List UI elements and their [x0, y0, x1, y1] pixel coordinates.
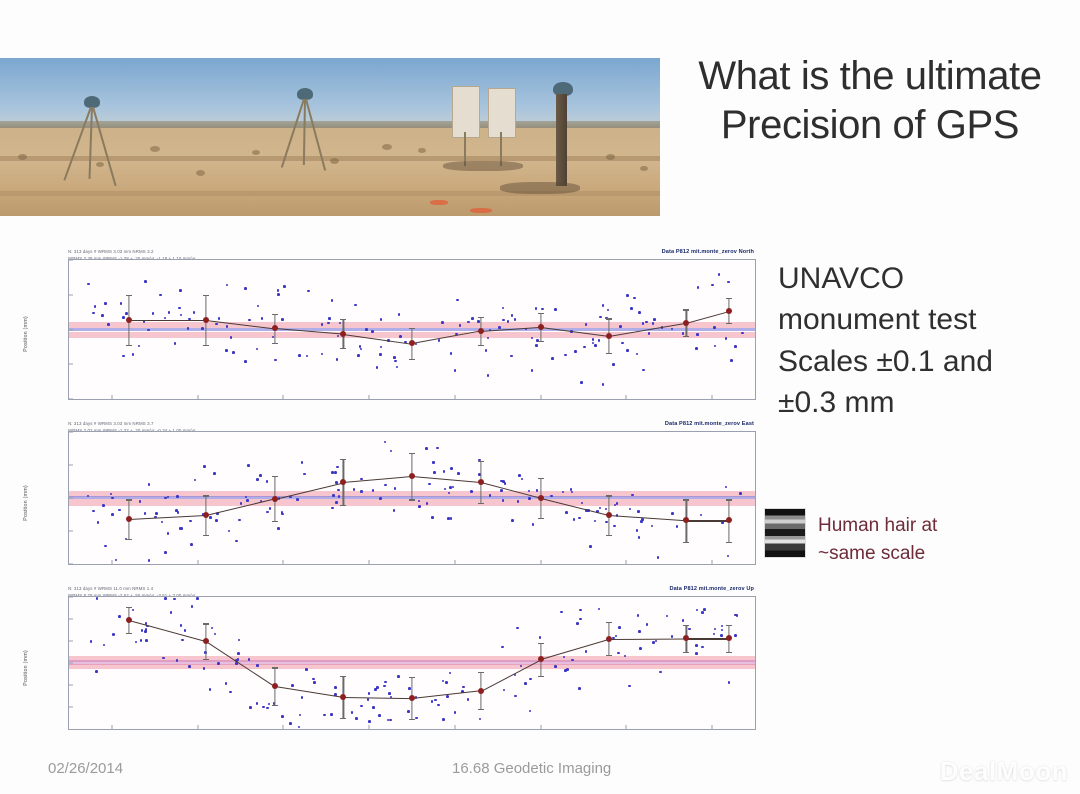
error-bar-cap: [409, 719, 415, 720]
trend-segment: [129, 320, 206, 321]
data-point: [621, 342, 624, 345]
data-point: [688, 628, 691, 631]
data-point: [235, 540, 238, 543]
data-point: [452, 486, 455, 489]
y-tick-mark: [69, 364, 73, 365]
mean-marker: [478, 479, 484, 485]
data-point: [599, 507, 602, 510]
data-point: [289, 722, 292, 725]
data-point: [467, 321, 470, 324]
data-point: [583, 346, 586, 349]
data-point: [696, 609, 699, 612]
data-point: [299, 714, 302, 717]
mean-marker: [409, 695, 415, 701]
data-point: [711, 284, 714, 287]
error-bar-cap: [126, 345, 132, 346]
data-point: [605, 521, 608, 524]
error-bar-cap: [478, 503, 484, 504]
chart-north: N: 313 days # WRMS 3.03 mm NRMS 3.2 WRMS…: [10, 248, 760, 420]
data-point: [614, 504, 617, 507]
data-point: [306, 355, 309, 358]
data-point: [144, 280, 147, 283]
error-bar-cap: [538, 341, 544, 342]
x-tick-mark: [454, 560, 455, 564]
data-point: [454, 711, 457, 714]
human-hair-caption: Human hair at ~same scale: [818, 512, 1068, 567]
data-point: [164, 597, 167, 600]
data-point: [94, 305, 97, 308]
mean-marker: [726, 517, 732, 523]
data-point: [443, 470, 446, 473]
data-point: [504, 482, 507, 485]
trend-segment: [343, 697, 412, 699]
x-tick-mark: [626, 725, 627, 729]
data-point: [331, 299, 334, 302]
data-point: [291, 684, 294, 687]
mean-marker: [726, 308, 732, 314]
survey-flag: [430, 200, 448, 205]
data-point: [256, 702, 259, 705]
data-point: [578, 687, 581, 690]
data-point: [217, 662, 220, 665]
data-point: [524, 682, 527, 685]
data-point: [619, 325, 622, 328]
error-bar-cap: [726, 323, 732, 324]
slide-root: What is the ultimate Precision of GPS UN…: [0, 0, 1080, 794]
data-point: [259, 474, 262, 477]
headline-line-2: Precision of GPS: [660, 101, 1080, 150]
data-point: [383, 685, 386, 688]
error-bar-cap: [683, 336, 689, 337]
error-bar-cap: [340, 319, 346, 320]
data-point: [428, 483, 431, 486]
data-point: [646, 623, 649, 626]
error-bar-cap: [340, 718, 346, 719]
data-point: [90, 640, 93, 643]
data-point: [578, 517, 581, 520]
data-point: [502, 319, 505, 322]
data-point: [456, 299, 459, 302]
data-point: [500, 480, 503, 483]
data-point: [170, 611, 173, 614]
trend-segment: [686, 638, 729, 639]
data-point: [269, 507, 272, 510]
data-point: [360, 705, 363, 708]
data-point: [190, 543, 193, 546]
monument-panel: [488, 88, 516, 138]
error-bar-cap: [538, 518, 544, 519]
data-point: [615, 635, 618, 638]
data-point: [535, 307, 538, 310]
data-point: [695, 652, 698, 655]
data-point: [238, 519, 241, 522]
data-point: [414, 729, 417, 730]
data-point: [682, 619, 685, 622]
data-point: [331, 507, 334, 510]
data-point: [579, 618, 582, 621]
data-point: [605, 508, 608, 511]
data-point: [573, 518, 576, 521]
data-point: [418, 505, 421, 508]
field-photo: [0, 58, 660, 216]
data-point: [450, 517, 453, 520]
data-point: [425, 447, 428, 450]
data-point: [394, 360, 397, 363]
data-point: [180, 624, 183, 627]
data-point: [599, 316, 602, 319]
data-point: [626, 349, 629, 352]
data-point: [618, 626, 621, 629]
data-point: [330, 713, 333, 716]
data-point: [630, 307, 633, 310]
data-point: [380, 346, 383, 349]
error-bar-cap: [272, 314, 278, 315]
data-point: [277, 293, 280, 296]
mean-marker: [409, 340, 415, 346]
error-bar-cap: [272, 343, 278, 344]
x-tick-mark: [626, 560, 627, 564]
error-bar-cap: [126, 607, 132, 608]
error-bar-cap: [126, 295, 132, 296]
data-point: [626, 294, 629, 297]
data-point: [394, 487, 397, 490]
data-point: [485, 349, 488, 352]
data-point: [120, 302, 123, 305]
error-bar-cap: [272, 476, 278, 477]
data-point: [380, 318, 383, 321]
data-point: [177, 511, 180, 514]
data-point: [700, 514, 703, 517]
gps-monument: [275, 88, 335, 183]
monument-post: [556, 94, 567, 186]
data-point: [232, 351, 235, 354]
error-bar-cap: [683, 625, 689, 626]
slide-headline: What is the ultimate Precision of GPS: [660, 52, 1080, 150]
mean-marker: [340, 479, 346, 485]
data-point: [501, 646, 504, 649]
x-tick-mark: [712, 725, 713, 729]
data-point: [248, 658, 251, 661]
data-point: [247, 464, 250, 467]
data-point: [570, 488, 573, 491]
data-point: [191, 605, 194, 608]
error-bar-cap: [203, 495, 209, 496]
data-point: [598, 608, 601, 611]
trend-segment: [412, 690, 481, 699]
data-point: [479, 718, 482, 721]
data-point: [244, 287, 247, 290]
data-point: [510, 355, 513, 358]
plot-area: 0.10.050-0.05-0.12013.22013.32013.42013.…: [68, 431, 756, 565]
data-point: [321, 323, 324, 326]
data-point: [560, 611, 563, 614]
data-point: [112, 633, 115, 636]
data-point: [514, 318, 517, 321]
y-tick-mark: [69, 399, 73, 400]
data-point: [335, 501, 338, 504]
error-bar-cap: [538, 478, 544, 479]
data-point: [415, 717, 418, 720]
x-tick-mark: [283, 560, 284, 564]
mean-marker: [478, 688, 484, 694]
data-point: [602, 383, 605, 386]
data-point: [629, 508, 632, 511]
data-point: [697, 286, 700, 289]
data-point: [594, 520, 597, 523]
data-point: [115, 559, 118, 562]
y-tick-mark: [69, 663, 73, 664]
data-point: [720, 634, 723, 637]
data-point: [594, 344, 597, 347]
data-point: [592, 338, 595, 341]
error-bar-cap: [478, 709, 484, 710]
data-point: [470, 490, 473, 493]
y-tick-mark: [69, 707, 73, 708]
data-point: [262, 706, 265, 709]
data-point: [467, 698, 470, 701]
data-point: [92, 510, 95, 513]
data-point: [147, 329, 150, 332]
data-point: [87, 283, 90, 286]
data-point: [328, 317, 331, 320]
data-point: [368, 720, 371, 723]
data-point: [96, 564, 99, 565]
mean-marker: [126, 317, 132, 323]
data-point: [648, 332, 651, 335]
data-point: [454, 369, 457, 372]
data-point: [378, 714, 381, 717]
x-tick-mark: [712, 560, 713, 564]
x-tick-mark: [540, 725, 541, 729]
monument-panel: [452, 86, 480, 138]
data-point: [122, 355, 125, 358]
data-point: [331, 471, 334, 474]
data-point: [713, 633, 716, 636]
y-axis-label: Position (mm): [23, 316, 29, 352]
error-bar-cap: [409, 359, 415, 360]
error-bar-cap: [478, 672, 484, 673]
data-point: [728, 681, 731, 684]
data-point: [357, 354, 360, 357]
error-bar-cap: [272, 667, 278, 668]
data-point: [642, 369, 645, 372]
data-point: [138, 345, 141, 348]
data-point: [585, 650, 588, 653]
data-point: [450, 467, 453, 470]
data-point: [321, 353, 324, 356]
data-point: [459, 324, 462, 327]
data-point: [671, 635, 674, 638]
data-point: [379, 497, 382, 500]
data-point: [139, 500, 142, 503]
data-point: [432, 461, 435, 464]
data-point: [283, 285, 286, 288]
data-point: [132, 609, 135, 612]
data-point: [551, 357, 554, 360]
y-tick-mark: [69, 597, 73, 598]
data-point: [636, 353, 639, 356]
data-point: [657, 556, 660, 559]
data-point: [201, 327, 204, 330]
x-tick-mark: [454, 725, 455, 729]
survey-flag: [470, 208, 492, 213]
trend-segment: [609, 515, 686, 522]
data-point: [379, 353, 382, 356]
data-point: [196, 597, 199, 600]
data-point: [637, 510, 640, 513]
timeseries-charts: N: 313 days # WRMS 3.03 mm NRMS 3.2 WRMS…: [10, 248, 760, 756]
human-hair-image: [764, 508, 806, 558]
mean-marker: [203, 317, 209, 323]
y-tick-mark: [69, 294, 73, 295]
data-point: [312, 678, 315, 681]
data-point: [178, 307, 181, 310]
data-point: [104, 302, 107, 305]
data-point: [471, 317, 474, 320]
mean-marker: [409, 473, 415, 479]
hair-caption-line-1: Human hair at: [818, 512, 1068, 540]
data-point: [248, 319, 251, 322]
data-point: [97, 521, 100, 524]
data-point: [734, 345, 737, 348]
data-point: [739, 492, 742, 495]
data-point: [445, 681, 448, 684]
mean-marker: [538, 495, 544, 501]
x-tick-mark: [369, 395, 370, 399]
error-bar-cap: [478, 345, 484, 346]
data-point: [188, 665, 191, 668]
mean-marker: [683, 517, 689, 523]
data-point: [215, 323, 218, 326]
data-point: [176, 495, 179, 498]
data-point: [144, 630, 147, 633]
data-point: [579, 609, 582, 612]
data-point: [268, 703, 271, 706]
data-point: [713, 326, 716, 329]
error-bar-cap: [726, 298, 732, 299]
data-point: [714, 345, 717, 348]
error-bar-cap: [726, 625, 732, 626]
mean-marker: [272, 683, 278, 689]
data-point: [628, 685, 631, 688]
data-point: [118, 509, 121, 512]
data-point: [580, 381, 583, 384]
data-point: [734, 634, 737, 637]
data-point: [397, 675, 400, 678]
panel-shadow: [443, 161, 523, 171]
data-point: [376, 366, 379, 369]
data-point: [718, 273, 721, 276]
data-point: [638, 536, 641, 539]
x-tick-mark: [197, 725, 198, 729]
y-tick-mark: [69, 641, 73, 642]
data-point: [554, 665, 557, 668]
data-point: [536, 489, 539, 492]
data-point: [96, 597, 99, 600]
error-bar-cap: [409, 453, 415, 454]
error-bar-cap: [272, 521, 278, 522]
mean-marker: [272, 496, 278, 502]
data-point: [104, 545, 107, 548]
data-point: [122, 316, 125, 319]
x-tick-mark: [712, 395, 713, 399]
data-point: [228, 530, 231, 533]
data-point: [148, 483, 151, 486]
error-bar-cap: [203, 535, 209, 536]
data-point: [529, 710, 532, 713]
y-tick-mark: [69, 531, 73, 532]
data-point: [389, 719, 392, 722]
error-bar-cap: [683, 309, 689, 310]
data-point: [237, 652, 240, 655]
data-point: [181, 639, 184, 642]
data-point: [637, 614, 640, 617]
headline-line-1: What is the ultimate: [660, 52, 1080, 101]
x-tick-mark: [197, 560, 198, 564]
y-tick-mark: [69, 685, 73, 686]
data-point: [102, 504, 105, 507]
data-point: [360, 348, 363, 351]
data-point: [301, 696, 304, 699]
data-point: [214, 633, 217, 636]
data-point: [215, 519, 218, 522]
error-bar-cap: [126, 633, 132, 634]
data-point: [393, 509, 396, 512]
y-tick-mark: [69, 619, 73, 620]
plot-area: 0.30.20.10-0.1-0.22013.22013.32013.42013…: [68, 596, 756, 730]
mean-marker: [340, 694, 346, 700]
data-point: [194, 479, 197, 482]
data-point: [727, 555, 730, 558]
error-bar-cap: [340, 505, 346, 506]
data-point: [175, 509, 178, 512]
data-point: [651, 525, 654, 528]
error-bar-cap: [203, 295, 209, 296]
error-bar-cap: [272, 705, 278, 706]
data-point: [500, 489, 503, 492]
data-point: [132, 353, 135, 356]
data-point: [631, 494, 634, 497]
mean-marker: [478, 328, 484, 334]
error-bar-cap: [538, 643, 544, 644]
error-bar-cap: [203, 345, 209, 346]
data-point: [576, 622, 579, 625]
data-point: [152, 312, 155, 315]
data-point: [531, 369, 534, 372]
y-axis-label: Position (mm): [23, 650, 29, 686]
data-point: [511, 314, 514, 317]
data-point: [256, 478, 259, 481]
y-tick-mark: [69, 564, 73, 565]
data-point: [528, 497, 531, 500]
data-point: [730, 359, 733, 362]
x-tick-mark: [111, 395, 112, 399]
error-bar-cap: [538, 676, 544, 677]
chart-title: Data P812 mit.monte_zerov North: [662, 249, 754, 255]
error-bar-cap: [683, 652, 689, 653]
data-point: [487, 337, 490, 340]
y-tick-mark: [69, 260, 73, 261]
data-point: [135, 641, 138, 644]
data-point: [141, 629, 144, 632]
data-point: [161, 521, 164, 524]
data-point: [388, 692, 391, 695]
data-point: [226, 325, 229, 328]
data-point: [721, 625, 724, 628]
data-point: [384, 681, 387, 684]
data-point: [365, 328, 368, 331]
y-tick-mark: [69, 498, 73, 499]
